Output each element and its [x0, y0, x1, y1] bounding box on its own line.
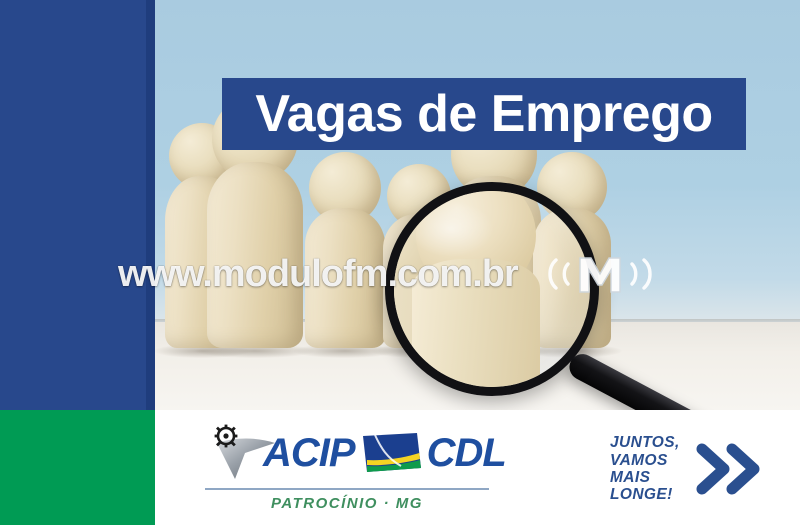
double-chevron-right-icon: [692, 437, 764, 501]
page-title: Vagas de Emprego: [255, 88, 712, 140]
magnifying-glass-icon: [385, 182, 615, 410]
tagline-line-3: MAIS: [610, 469, 680, 486]
sidebar-blue-edge-stripe: [146, 0, 155, 410]
peg-body: [412, 259, 540, 393]
footer-bar: ACIP CDL PATROCÍNIO · MG JUNTOS, VAMOS: [155, 410, 800, 525]
brand-divider: [205, 488, 489, 490]
sidebar-blue-band: [0, 0, 155, 410]
magnifier-lens: [385, 182, 599, 396]
tagline-line-1: JUNTOS,: [610, 434, 680, 451]
cdl-wordmark: CDL: [427, 433, 506, 473]
brand-city-label: PATROCÍNIO · MG: [205, 495, 489, 512]
left-color-bars: [0, 0, 155, 525]
gear-arrow-mark-icon: [205, 423, 277, 483]
peg-body: [305, 208, 385, 348]
wooden-peg-figure: [305, 152, 385, 348]
acip-cdl-logo: ACIP CDL PATROCÍNIO · MG: [205, 422, 505, 514]
tagline-line-4: LONGE!: [610, 486, 680, 503]
sidebar-green-band: [0, 410, 155, 525]
tagline-line-2: VAMOS: [610, 452, 680, 469]
title-banner: Vagas de Emprego: [222, 78, 746, 150]
hero-photo: [155, 0, 800, 410]
peg-body: [207, 162, 303, 348]
brand-row: ACIP CDL: [205, 422, 505, 484]
tagline-block: JUNTOS, VAMOS MAIS LONGE!: [610, 434, 764, 504]
magnified-peg-figure: [412, 182, 540, 393]
flag-banner-mark-icon: [361, 430, 423, 476]
job-vacancy-poster: Vagas de Emprego www.modulofm.com.br: [0, 0, 800, 525]
tagline-text: JUNTOS, VAMOS MAIS LONGE!: [610, 434, 680, 503]
